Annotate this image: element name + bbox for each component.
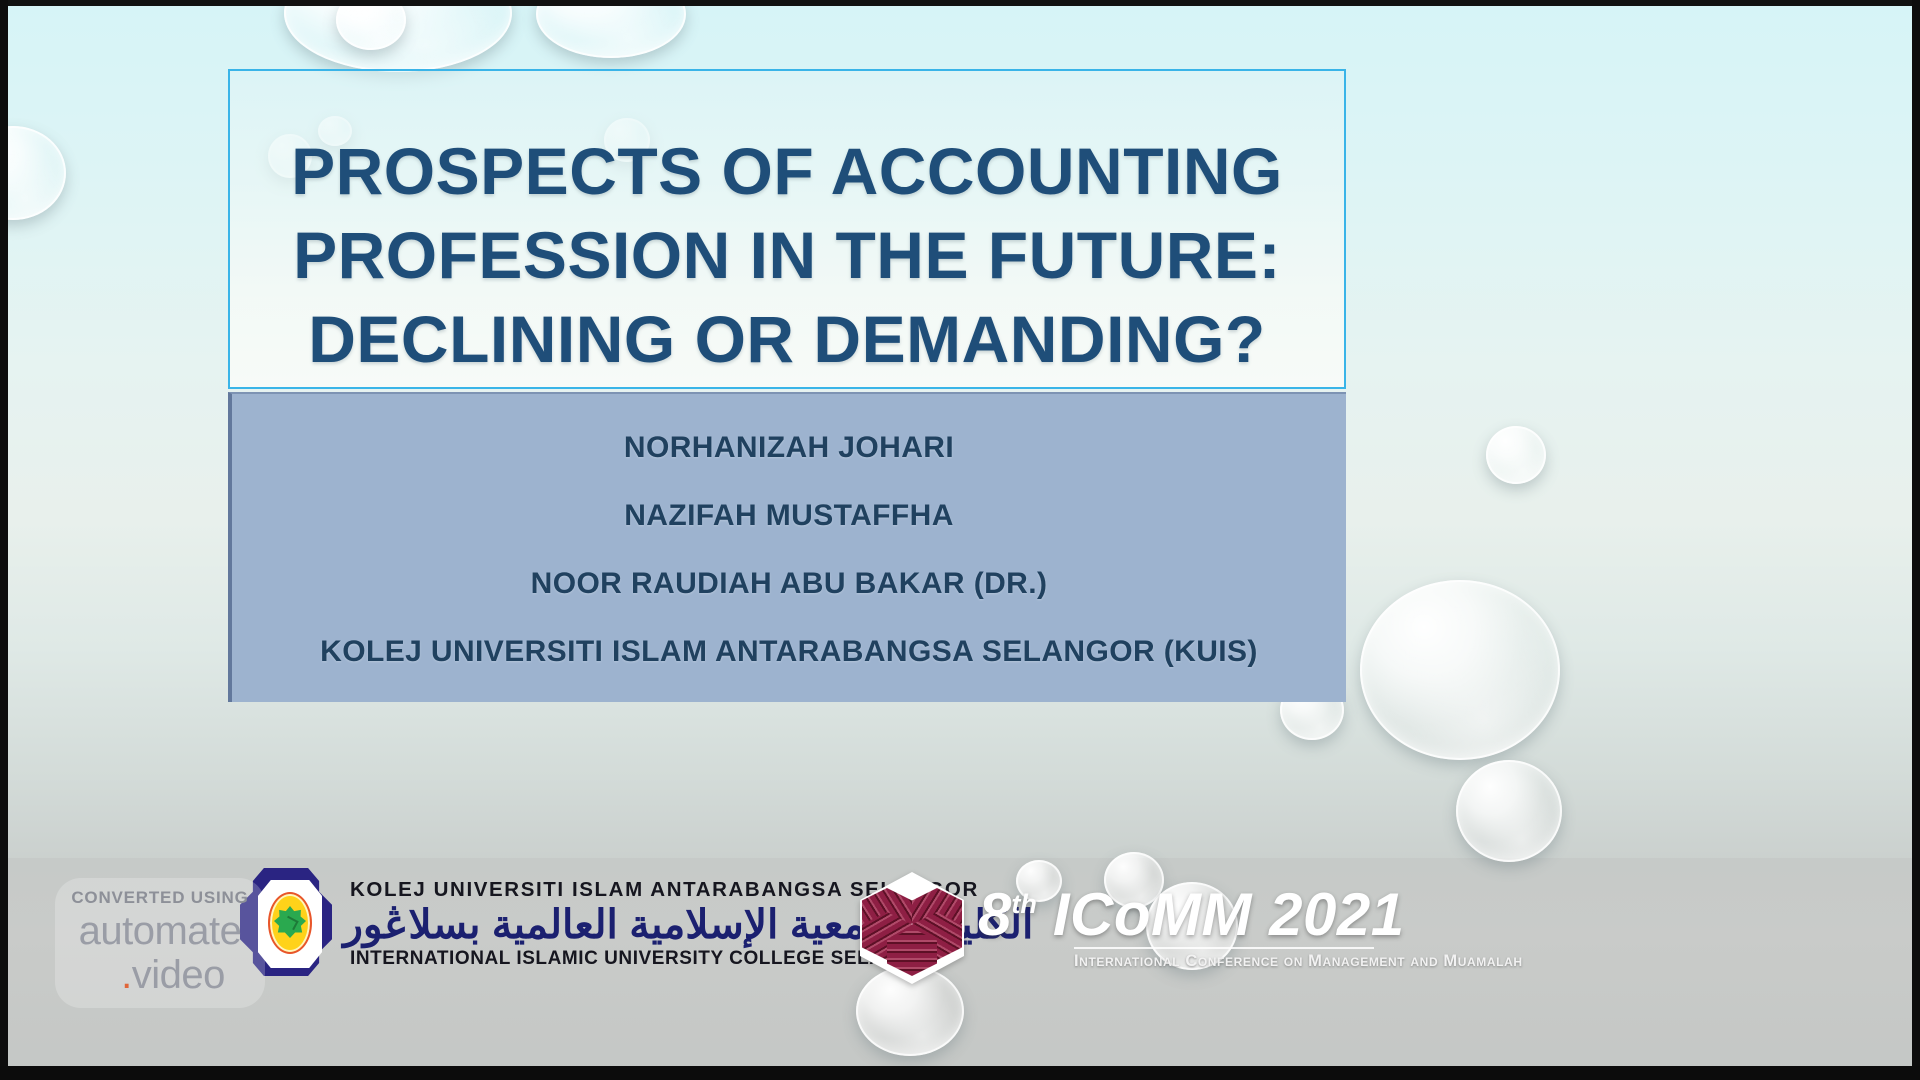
authors-panel: NORHANIZAH JOHARI NAZIFAH MUSTAFFHA NOOR… [228, 392, 1346, 702]
frame-edge-left [0, 0, 8, 1080]
author-name: NORHANIZAH JOHARI [232, 414, 1346, 482]
title-frame: PROSPECTS OF ACCOUNTING PROFESSION IN TH… [228, 69, 1346, 389]
frame-edge-bottom [0, 1066, 1920, 1080]
presentation-slide: PROSPECTS OF ACCOUNTING PROFESSION IN TH… [0, 0, 1920, 1080]
page-title: PROSPECTS OF ACCOUNTING PROFESSION IN TH… [230, 129, 1344, 383]
icomm-ordinal-number: 8 [978, 885, 1010, 945]
icomm-hexagon-icon [860, 872, 964, 984]
author-name: NOOR RAUDIAH ABU BAKAR (DR.) [232, 550, 1346, 618]
frame-edge-right [1912, 0, 1920, 1080]
icomm-divider [1074, 947, 1374, 949]
icomm-logo: 8 th ICoMM 2021 International Conference… [860, 872, 1523, 984]
affiliation-name: KOLEJ UNIVERSITI ISLAM ANTARABANGSA SELA… [232, 618, 1346, 686]
kuis-emblem-icon [240, 868, 340, 980]
icomm-subtitle: International Conference on Management a… [1074, 952, 1523, 971]
frame-edge-top [0, 0, 1920, 6]
icomm-title: 8 th ICoMM 2021 [978, 885, 1523, 945]
icomm-ordinal-suffix: th [1011, 891, 1036, 918]
icomm-name: ICoMM 2021 [1053, 885, 1405, 945]
author-name: NAZIFAH MUSTAFFHA [232, 482, 1346, 550]
